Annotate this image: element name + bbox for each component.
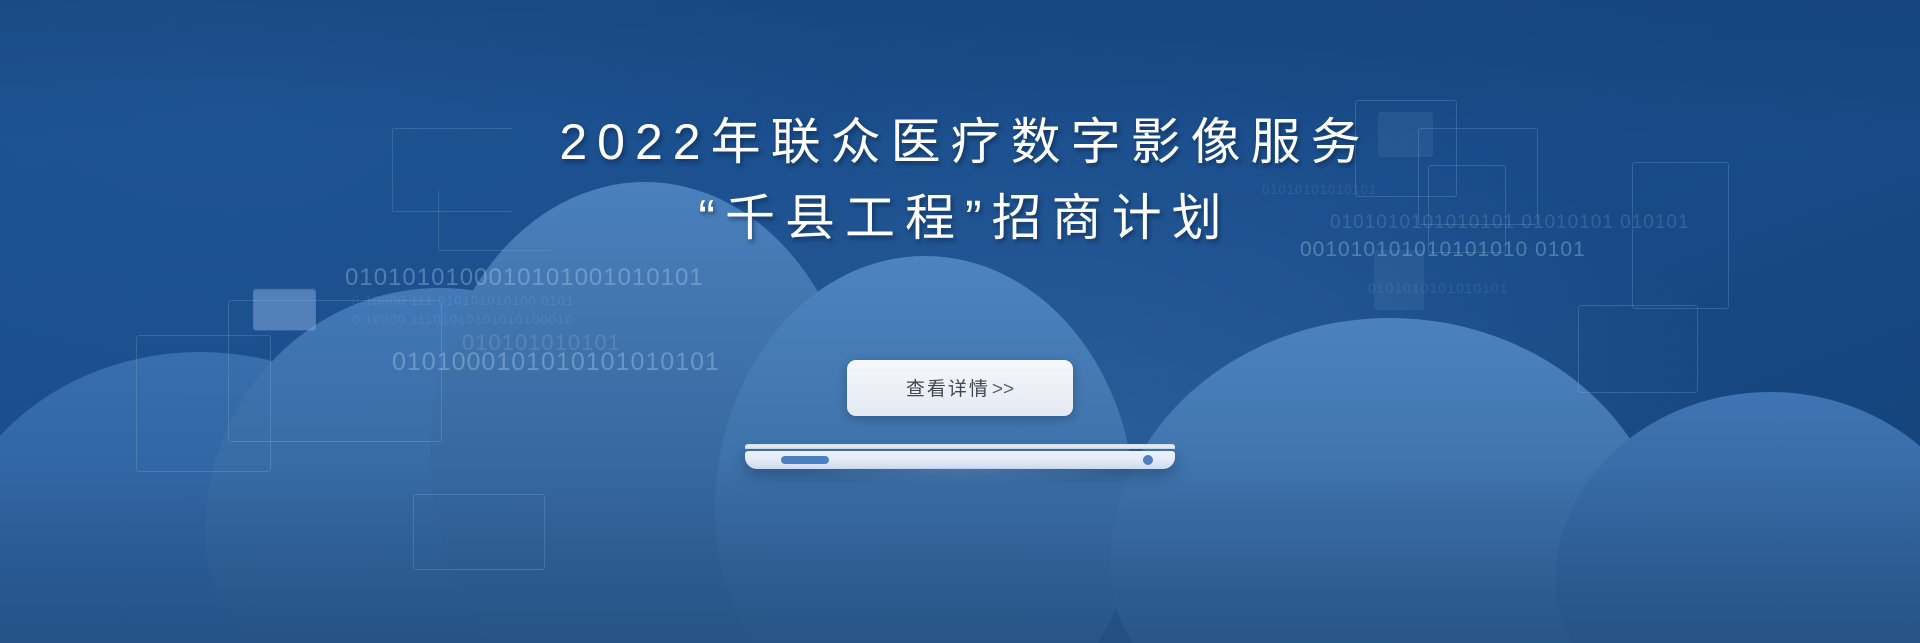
cta-label: 查看详情 xyxy=(906,379,990,400)
camera-dot-icon xyxy=(1143,455,1153,465)
laptop-screen-lip xyxy=(745,444,1175,449)
binary-text: 0 10000 11101010101010100010 xyxy=(352,312,573,327)
promo-banner: 0101010100010101001010101 0 10000 111 01… xyxy=(0,0,1920,643)
decor-rectangle-bottom-left xyxy=(413,494,545,570)
decor-filled-panel-left xyxy=(253,288,316,330)
laptop-base-illustration xyxy=(745,444,1175,469)
touchpad-indicator-icon xyxy=(781,456,829,464)
banner-title: 2022年联众医疗数字影像服务 “千县工程”招商计划 xyxy=(0,104,1920,256)
binary-text: 0101010100010101001010101 xyxy=(345,264,704,292)
cta-container: 查看详情>> xyxy=(0,360,1920,416)
binary-text: 0 10000 111 010101010100 0101 xyxy=(352,293,574,308)
double-chevron-right-icon: >> xyxy=(992,379,1014,400)
title-line-1: 2022年联众医疗数字影像服务 xyxy=(0,104,1920,180)
view-details-button[interactable]: 查看详情>> xyxy=(847,360,1073,416)
binary-text: 0101010101010101 xyxy=(1368,280,1509,296)
title-line-2: “千县工程”招商计划 xyxy=(0,180,1920,256)
laptop-deck xyxy=(745,451,1175,469)
laptop-shadow xyxy=(731,468,1189,490)
